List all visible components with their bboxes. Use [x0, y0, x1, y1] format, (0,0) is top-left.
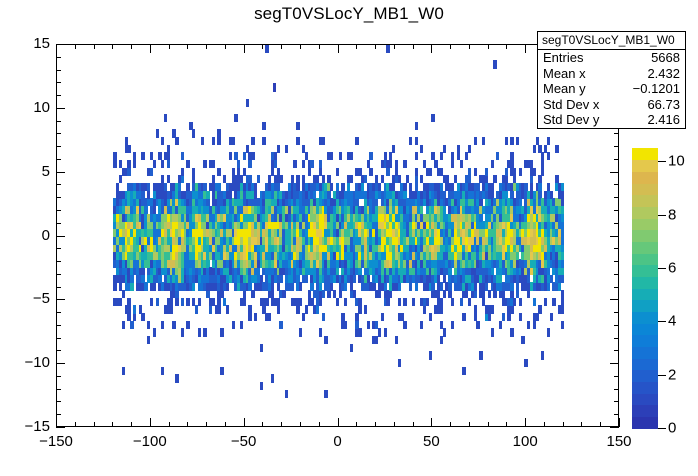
y-axis-tick-label: 10	[10, 99, 50, 116]
y-tick-minor-right	[614, 210, 619, 211]
color-bar-cell	[632, 300, 658, 312]
histogram-bin	[443, 328, 446, 336]
color-bar-tick-label: 10	[668, 153, 685, 170]
stats-row-label: Mean x	[543, 66, 592, 82]
color-bar-cell	[632, 405, 658, 417]
histogram-bin	[491, 160, 494, 168]
histogram-bin	[302, 313, 305, 321]
stats-row-value: 5668	[651, 50, 680, 66]
histogram-bin	[499, 321, 502, 329]
histogram-bin	[415, 122, 418, 130]
histogram-bin	[521, 336, 524, 344]
histogram-bin	[127, 305, 130, 313]
histogram-bin	[248, 313, 251, 321]
histogram-bin	[358, 298, 361, 306]
histogram-bin	[147, 183, 150, 191]
color-bar-cell	[632, 218, 658, 230]
y-tick-minor-right	[614, 350, 619, 351]
x-tick-minor-top	[300, 44, 301, 49]
histogram-bin	[476, 321, 479, 329]
color-bar-cell	[632, 276, 658, 288]
x-tick-minor-top	[356, 44, 357, 49]
x-tick-major	[431, 418, 432, 427]
y-tick-major	[56, 108, 65, 109]
histogram-bin	[519, 298, 522, 306]
histogram-bin	[299, 328, 302, 336]
histogram-bin	[561, 298, 564, 306]
histogram-bin	[350, 175, 353, 183]
color-bar-cell	[632, 148, 658, 160]
histogram-bin	[296, 305, 299, 313]
x-tick-major-top	[150, 44, 151, 53]
histogram-bin	[130, 321, 133, 329]
histogram-bin	[172, 321, 175, 329]
histogram-bin	[369, 168, 372, 176]
histogram-bin	[240, 321, 243, 329]
y-tick-major	[56, 363, 65, 364]
histogram-bin	[330, 152, 333, 160]
histogram-bin	[141, 313, 144, 321]
histogram-bin	[561, 206, 564, 214]
x-tick-minor	[413, 422, 414, 427]
color-bar-tick	[658, 215, 666, 216]
histogram-bin	[161, 321, 164, 329]
histogram-bin	[533, 298, 536, 306]
x-tick-minor	[563, 422, 564, 427]
y-tick-minor	[56, 261, 61, 262]
histogram-bin	[561, 229, 564, 237]
histogram-bin	[561, 275, 564, 283]
histogram-bin	[156, 298, 159, 306]
histogram-bin	[234, 114, 237, 122]
x-tick-minor-top	[94, 44, 95, 49]
histogram-bin	[403, 321, 406, 329]
histogram-bin	[220, 367, 223, 375]
histogram-bin	[285, 390, 288, 398]
x-tick-minor	[356, 422, 357, 427]
histogram-bin	[451, 298, 454, 306]
histogram-bin	[246, 99, 249, 107]
histogram-bin	[426, 298, 429, 306]
y-tick-minor	[56, 350, 61, 351]
histogram-bin	[420, 321, 423, 329]
x-tick-minor	[544, 422, 545, 427]
x-tick-minor	[94, 422, 95, 427]
histogram-bin	[510, 305, 513, 313]
x-tick-minor	[75, 422, 76, 427]
histogram-bin	[541, 351, 544, 359]
histogram-bin	[268, 313, 271, 321]
histogram-bin	[561, 321, 564, 329]
histogram-bin	[150, 298, 153, 306]
histogram-bin	[488, 290, 491, 298]
y-tick-minor-right	[614, 389, 619, 390]
histogram-bin	[488, 313, 491, 321]
color-bar-gradient	[632, 148, 658, 428]
histogram-bin	[440, 298, 443, 306]
color-bar-tick-label: 0	[668, 420, 676, 437]
histogram-bin	[327, 290, 330, 298]
histogram-bin	[319, 298, 322, 306]
x-tick-minor-top	[506, 44, 507, 49]
y-tick-minor	[56, 389, 61, 390]
histogram-bin	[462, 367, 465, 375]
histogram-bin	[547, 328, 550, 336]
histogram-bin	[293, 160, 296, 168]
histogram-bin	[358, 305, 361, 313]
histogram-bin	[260, 344, 263, 352]
histogram-bin	[310, 160, 313, 168]
y-axis-tick-label: 0	[10, 227, 50, 244]
histogram-bin	[482, 137, 485, 145]
histogram-bin	[386, 45, 389, 53]
histogram-bin	[167, 160, 170, 168]
histogram-bin	[541, 152, 544, 160]
histogram-bin	[251, 290, 254, 298]
x-tick-major	[150, 418, 151, 427]
histogram-bin	[285, 145, 288, 153]
histogram-bin	[262, 137, 265, 145]
histogram-bin	[344, 282, 347, 290]
histogram-bin	[524, 359, 527, 367]
y-tick-minor	[56, 95, 61, 96]
x-tick-minor-top	[394, 44, 395, 49]
histogram-bin	[186, 298, 189, 306]
x-tick-major-top	[56, 44, 57, 53]
histogram-bin	[220, 328, 223, 336]
histogram-bin	[513, 168, 516, 176]
histogram-bin	[198, 328, 201, 336]
y-axis-tick-label: 5	[10, 163, 50, 180]
x-tick-minor-top	[131, 44, 132, 49]
histogram-bin	[229, 152, 232, 160]
histogram-bin	[277, 145, 280, 153]
histogram-bin	[206, 191, 209, 199]
x-tick-minor-top	[187, 44, 188, 49]
histogram-bin	[119, 298, 122, 306]
histogram-bin	[561, 290, 564, 298]
histogram-bin	[336, 298, 339, 306]
y-tick-minor	[56, 274, 61, 275]
histogram-bin	[119, 175, 122, 183]
histogram-bin	[133, 152, 136, 160]
histogram-bin	[538, 183, 541, 191]
y-tick-minor-right	[614, 261, 619, 262]
y-tick-minor-right	[614, 159, 619, 160]
x-tick-major	[525, 418, 526, 427]
histogram-bin	[339, 152, 342, 160]
histogram-bin	[344, 321, 347, 329]
histogram-bin	[510, 137, 513, 145]
histogram-bin	[344, 298, 347, 306]
x-tick-minor	[300, 422, 301, 427]
x-axis-tick-label: 100	[495, 433, 555, 450]
histogram-bin	[127, 145, 130, 153]
histogram-bin	[302, 160, 305, 168]
histogram-bin	[198, 298, 201, 306]
x-tick-minor	[262, 422, 263, 427]
y-tick-major-right	[610, 236, 619, 237]
histogram-bin	[192, 168, 195, 176]
histogram-bin	[510, 152, 513, 160]
histogram-bin	[350, 152, 353, 160]
histogram-bin	[561, 183, 564, 191]
x-tick-minor-top	[319, 44, 320, 49]
histogram-bin	[530, 175, 533, 183]
histogram-bin	[409, 137, 412, 145]
histogram-bin	[398, 298, 401, 306]
color-bar-tick	[658, 321, 666, 322]
y-tick-minor	[56, 248, 61, 249]
stats-row-value: 2.432	[647, 66, 680, 82]
histogram-bin	[232, 321, 235, 329]
histogram-bin	[550, 313, 553, 321]
histogram-bin	[141, 267, 144, 275]
x-tick-minor-top	[281, 44, 282, 49]
x-tick-minor-top	[75, 44, 76, 49]
histogram-bin	[147, 321, 150, 329]
histogram-bin	[251, 137, 254, 145]
histogram-bin	[164, 114, 167, 122]
y-tick-minor-right	[614, 376, 619, 377]
x-axis-tick-label: −100	[120, 433, 180, 450]
histogram-bin	[127, 298, 130, 306]
histogram-bin	[243, 290, 246, 298]
x-tick-minor	[394, 422, 395, 427]
x-tick-minor-top	[112, 44, 113, 49]
histogram-bin	[468, 168, 471, 176]
x-tick-minor-top	[262, 44, 263, 49]
color-bar-cell	[632, 253, 658, 265]
histogram-bin	[547, 137, 550, 145]
histogram-bin	[161, 160, 164, 168]
histogram-bin	[516, 137, 519, 145]
histogram-bin	[460, 160, 463, 168]
histogram-bin	[279, 321, 282, 329]
x-tick-minor	[469, 422, 470, 427]
color-bar-cell	[632, 370, 658, 382]
histogram-bin	[440, 336, 443, 344]
histogram-bin	[505, 137, 508, 145]
color-bar-cell	[632, 323, 658, 335]
y-tick-minor	[56, 146, 61, 147]
histogram-bin	[161, 367, 164, 375]
x-tick-major-top	[338, 44, 339, 53]
histogram-bin	[482, 290, 485, 298]
histogram-bin	[296, 175, 299, 183]
y-tick-major	[56, 236, 65, 237]
histogram-bin	[339, 290, 342, 298]
x-tick-minor-top	[488, 44, 489, 49]
histogram-bin	[367, 321, 370, 329]
histogram-bin	[493, 60, 496, 68]
histogram-bin	[181, 328, 184, 336]
histogram-bin	[324, 336, 327, 344]
histogram-bin	[186, 160, 189, 168]
histogram-bin	[381, 313, 384, 321]
y-tick-minor	[56, 121, 61, 122]
histogram-bin	[336, 168, 339, 176]
histogram-bin	[398, 359, 401, 367]
y-tick-minor	[56, 159, 61, 160]
y-tick-minor	[56, 210, 61, 211]
y-tick-major	[56, 44, 65, 45]
x-tick-minor	[488, 422, 489, 427]
histogram-bin	[485, 168, 488, 176]
histogram-bin	[181, 168, 184, 176]
y-tick-minor	[56, 401, 61, 402]
histogram-bin	[144, 282, 147, 290]
histogram-bin	[536, 313, 539, 321]
color-bar-cell	[632, 416, 658, 428]
histogram-bin	[232, 137, 235, 145]
stats-row-value: 2.416	[647, 112, 680, 128]
color-bar[interactable]: 0246810	[632, 148, 658, 428]
y-tick-minor	[56, 312, 61, 313]
y-tick-major-right	[610, 299, 619, 300]
histogram-bin	[429, 168, 432, 176]
histogram-bin	[271, 282, 274, 290]
histogram-bin	[491, 183, 494, 191]
color-bar-cell	[632, 346, 658, 358]
histogram-bin	[415, 282, 418, 290]
histogram-bin	[474, 168, 477, 176]
histogram-bin	[555, 145, 558, 153]
histogram-bin	[389, 290, 392, 298]
histogram-bin	[217, 305, 220, 313]
histogram-bin	[465, 152, 468, 160]
histogram-bin	[386, 168, 389, 176]
histogram-bin	[279, 275, 282, 283]
histogram-bin	[395, 160, 398, 168]
x-tick-minor	[450, 422, 451, 427]
stats-row-label: Entries	[543, 50, 589, 66]
x-tick-minor	[225, 422, 226, 427]
histogram-bin	[217, 129, 220, 137]
histogram-bin	[533, 321, 536, 329]
y-axis-tick-label: −10	[10, 354, 50, 371]
histogram-bin	[262, 122, 265, 130]
color-bar-tick	[658, 161, 666, 162]
histogram-bin	[350, 344, 353, 352]
stats-row-value: 66.73	[647, 97, 680, 113]
histogram-bin	[474, 305, 477, 313]
histogram-bin	[358, 328, 361, 336]
x-axis-tick-label: −150	[26, 433, 86, 450]
histogram-bin	[403, 183, 406, 191]
histogram-bin	[386, 298, 389, 306]
color-bar-cell	[632, 230, 658, 242]
color-bar-tick-label: 4	[668, 313, 676, 330]
y-tick-minor-right	[614, 248, 619, 249]
histogram-bin	[122, 367, 125, 375]
histogram-bin	[130, 275, 133, 283]
histogram-bin	[355, 313, 358, 321]
histogram-bin	[513, 298, 516, 306]
color-bar-cell	[632, 335, 658, 347]
histogram-bin	[248, 305, 251, 313]
color-bar-cell	[632, 288, 658, 300]
histogram-bin	[510, 282, 513, 290]
histogram-bin	[561, 198, 564, 206]
histogram-bin	[519, 313, 522, 321]
color-bar-cell	[632, 311, 658, 323]
x-tick-minor	[187, 422, 188, 427]
x-axis-tick-label: 150	[589, 433, 649, 450]
y-tick-minor	[56, 338, 61, 339]
y-tick-minor-right	[614, 223, 619, 224]
histogram-bin	[257, 175, 260, 183]
histogram-bin	[505, 168, 508, 176]
y-tick-minor-right	[614, 184, 619, 185]
stats-row: Std Dev y2.416	[538, 112, 685, 128]
histogram-bin	[212, 160, 215, 168]
x-axis-tick-label: −50	[214, 433, 274, 450]
y-tick-major-right	[610, 427, 619, 428]
y-tick-minor	[56, 133, 61, 134]
histogram-bin	[226, 282, 229, 290]
histogram-bin	[448, 282, 451, 290]
y-tick-minor	[56, 197, 61, 198]
stats-row-value: −0.1201	[633, 81, 680, 97]
histogram-bin	[147, 336, 150, 344]
histogram-bin	[322, 137, 325, 145]
histogram-bin	[561, 305, 564, 313]
histogram-bin	[305, 305, 308, 313]
x-tick-minor-top	[225, 44, 226, 49]
histogram-bin	[277, 305, 280, 313]
x-tick-minor	[112, 422, 113, 427]
color-bar-cell	[632, 160, 658, 172]
stats-box[interactable]: segT0VSLocY_MB1_W0 Entries5668Mean x2.43…	[537, 31, 686, 129]
histogram-bin	[274, 152, 277, 160]
histogram-bin	[392, 145, 395, 153]
color-bar-cell	[632, 206, 658, 218]
histogram-bin	[217, 168, 220, 176]
x-tick-major	[56, 418, 57, 427]
y-tick-major	[56, 172, 65, 173]
y-tick-minor	[56, 287, 61, 288]
y-tick-minor-right	[614, 274, 619, 275]
histogram-bin	[133, 305, 136, 313]
y-tick-minor	[56, 376, 61, 377]
histogram-bin	[384, 328, 387, 336]
stats-row: Mean x2.432	[538, 66, 685, 82]
x-tick-minor-top	[450, 44, 451, 49]
histogram-bin	[195, 305, 198, 313]
histogram-bin	[412, 298, 415, 306]
histogram-bin	[409, 282, 412, 290]
histogram-bin	[561, 252, 564, 260]
color-bar-cell	[632, 241, 658, 253]
x-tick-minor	[206, 422, 207, 427]
histogram-bin	[226, 305, 229, 313]
x-tick-major-top	[431, 44, 432, 53]
color-bar-cell	[632, 393, 658, 405]
histogram-bin	[175, 290, 178, 298]
histogram-bin	[561, 259, 564, 267]
y-tick-minor-right	[614, 401, 619, 402]
histogram-bin	[181, 152, 184, 160]
histogram-bin	[462, 313, 465, 321]
histogram-bins-layer	[57, 45, 618, 426]
histogram-bin	[122, 290, 125, 298]
histogram-bin	[296, 137, 299, 145]
x-tick-major	[338, 418, 339, 427]
x-tick-minor	[281, 422, 282, 427]
histogram-bin	[150, 168, 153, 176]
histogram-bin	[248, 160, 251, 168]
